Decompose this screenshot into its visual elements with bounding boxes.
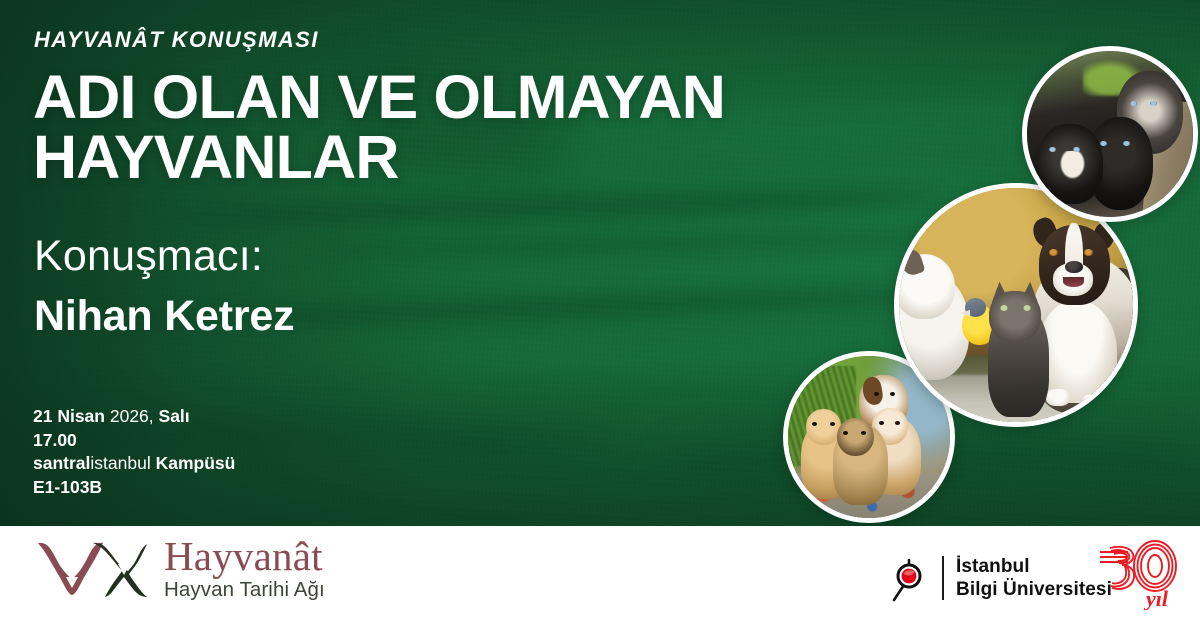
kittens-photo [1022, 46, 1198, 222]
anniversary-word: yıl [1143, 586, 1169, 610]
event-time: 17.00 [33, 430, 77, 450]
campus-suffix: Kampüsü [156, 453, 236, 473]
hayvanat-logo-wordmark: Hayvanât Hayvan Tarihi Ağı [164, 536, 325, 601]
event-time-row: 17.00 [33, 429, 235, 453]
hayvanat-logo-subtitle: Hayvan Tarihi Ağı [164, 580, 325, 601]
event-room: E1-103B [33, 477, 102, 497]
campus-prefix: santral [33, 453, 90, 473]
speaker-name: Nihan Ketrez [34, 292, 294, 341]
hayvanat-logo-title: Hayvanât [164, 536, 325, 577]
speaker-label: Konuşmacı: [34, 232, 263, 281]
event-kicker: HAYVANÂT KONUŞMASI [34, 27, 319, 53]
event-date-weekday: Salı [159, 406, 190, 426]
event-campus-row: santralistanbul Kampüsü [33, 452, 235, 476]
hayvanat-logo: Hayvanât Hayvan Tarihi Ağı [34, 536, 325, 601]
bilgi-university-logo: İstanbul Bilgi Üniversitesi [888, 554, 1112, 602]
event-date-day: 21 Nisan [33, 406, 105, 426]
kittens-photo-image [1027, 51, 1193, 217]
event-date-year: 2026, [110, 406, 154, 426]
bilgi-pin-icon [888, 554, 930, 602]
bilgi-university-name: İstanbul Bilgi Üniversitesi [956, 555, 1112, 601]
page-title: ADI OLAN VE OLMAYAN HAYVANLAR [33, 68, 725, 188]
pets-group-photo-image [899, 188, 1133, 422]
hayvanat-logo-mark [34, 537, 152, 599]
event-room-row: E1-103B [33, 476, 235, 500]
poster-banner: HAYVANÂT KONUŞMASI ADI OLAN VE OLMAYAN H… [0, 0, 1200, 526]
bilgi-logo-divider [942, 556, 944, 600]
event-poster: HAYVANÂT KONUŞMASI ADI OLAN VE OLMAYAN H… [0, 0, 1200, 628]
event-date-row: 21 Nisan 2026, Salı [33, 405, 235, 429]
campus-mid: istanbul [90, 453, 150, 473]
event-details: 21 Nisan 2026, Salı 17.00 santralistanbu… [33, 405, 235, 499]
anniversary-30-yil-logo: yıl [1098, 538, 1180, 610]
poster-footer: Hayvanât Hayvan Tarihi Ağı İstanbul Bilg… [0, 526, 1200, 628]
